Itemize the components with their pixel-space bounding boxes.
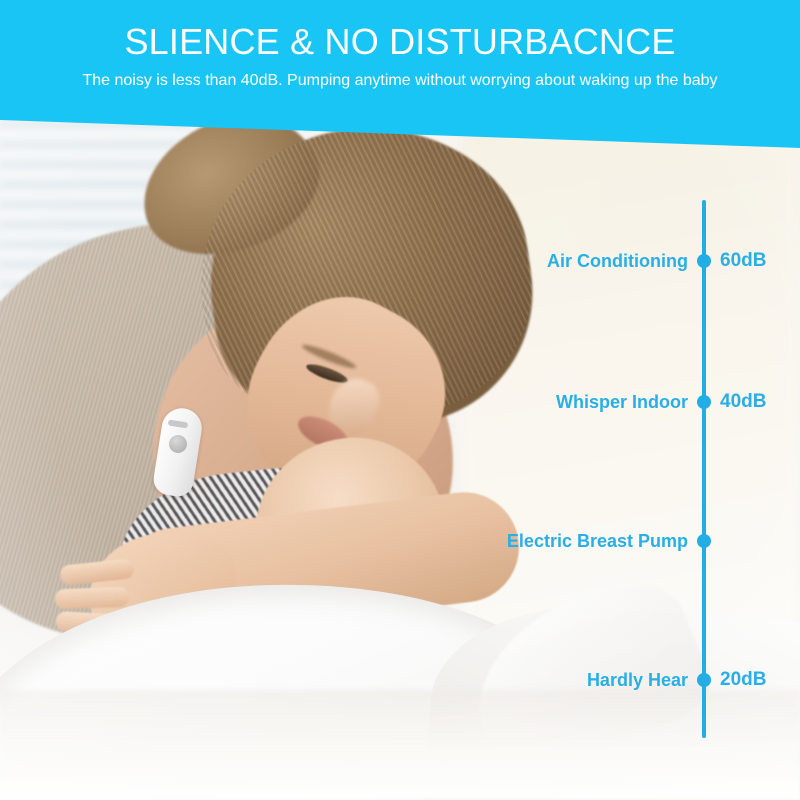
scale-row: Hardly Hear 20dB [0,666,800,694]
scale-label-whisper-indoor: Whisper Indoor [556,388,688,416]
scale-value-air-conditioning: 60dB [720,247,766,275]
scale-dot-hardly-hear [697,673,711,687]
scale-dot-electric-breast-pump [697,534,711,548]
scale-row: Whisper Indoor 40dB [0,388,800,416]
scale-label-hardly-hear: Hardly Hear [587,666,688,694]
scale-label-electric-breast-pump: Electric Breast Pump [507,527,688,555]
scale-dot-whisper-indoor [697,395,711,409]
scale-row: Air Conditioning 60dB [0,247,800,275]
noise-level-scale: Air Conditioning 60dB Whisper Indoor 40d… [0,0,800,800]
scale-value-hardly-hear: 20dB [720,666,766,694]
scale-row: Electric Breast Pump [0,527,800,555]
product-feature-image: SLIENCE & NO DISTURBACNCE The noisy is l… [0,0,800,800]
scale-value-whisper-indoor: 40dB [720,388,766,416]
scale-label-air-conditioning: Air Conditioning [547,247,688,275]
scale-dot-air-conditioning [697,254,711,268]
scale-axis-line [702,200,706,738]
